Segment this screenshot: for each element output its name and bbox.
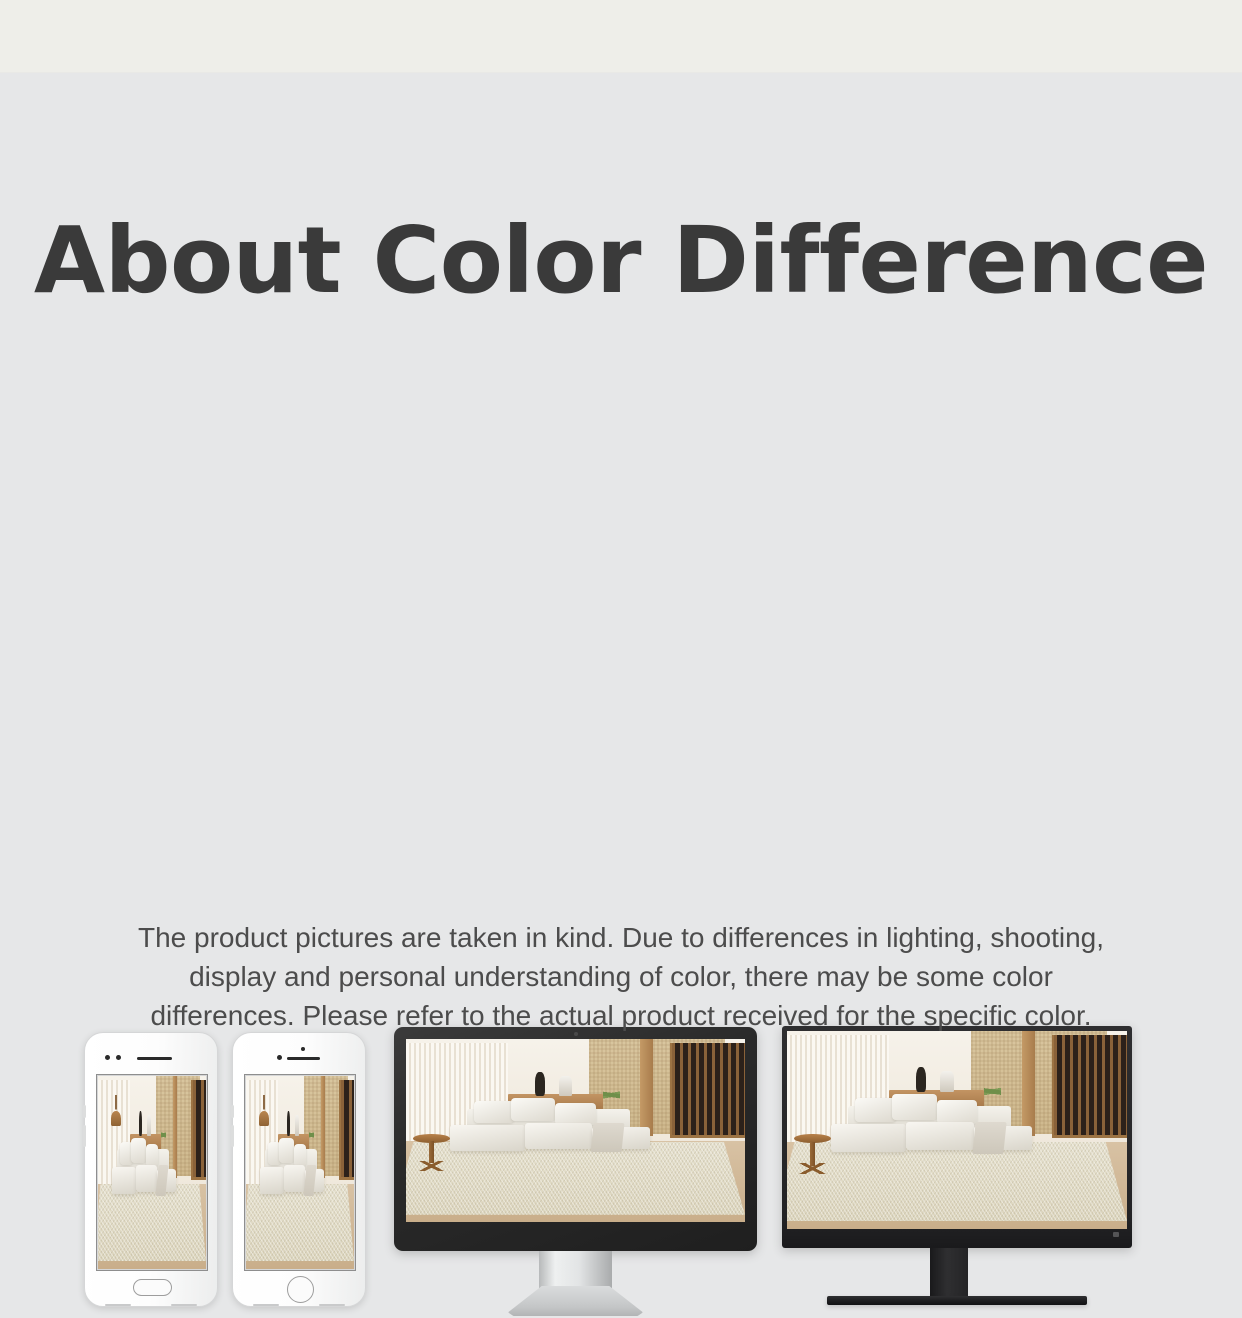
scene-cushion: [937, 1100, 978, 1124]
black-monitor-stand-base: [827, 1296, 1087, 1305]
scene-slat-screen: [339, 1080, 354, 1180]
scene-cushion: [511, 1098, 555, 1122]
scene-side-table-stem: [429, 1141, 434, 1163]
scene-door-frame: [321, 1076, 325, 1178]
smartphone-right-screen: [244, 1074, 356, 1271]
bottom-antenna-line: [319, 1304, 345, 1306]
scene-pendant-lamp: [111, 1095, 121, 1126]
scene-sofa-seat: [260, 1167, 284, 1194]
scene-sofa-seat: [831, 1124, 906, 1152]
scene-cushion: [146, 1144, 159, 1167]
disclaimer-line-3: differences. Please refer to the actual …: [0, 996, 1242, 1035]
disclaimer-line-2: display and personal understanding of co…: [0, 957, 1242, 996]
scene-slat-screen: [191, 1080, 206, 1180]
bottom-speaker-grille: [105, 1304, 131, 1306]
volume-up-button[interactable]: [83, 1105, 86, 1118]
apple-display-stand-neck: [539, 1251, 612, 1289]
scene-cushion: [855, 1098, 896, 1122]
scene-side-table-legs: [796, 1163, 829, 1173]
scene-rug: [245, 1184, 354, 1261]
scene-throw-blanket: [591, 1123, 625, 1152]
home-button[interactable]: [287, 1276, 314, 1303]
smartphone-left[interactable]: [84, 1032, 218, 1307]
disclaimer-line-1: The product pictures are taken in kind. …: [0, 918, 1242, 957]
scene-sofa-seat: [906, 1122, 974, 1150]
black-monitor[interactable]: [782, 1026, 1132, 1318]
scene-cushion: [555, 1103, 596, 1125]
bottom-speaker-grille: [253, 1304, 279, 1306]
scene-rug: [787, 1142, 1127, 1221]
scene-pendant-lamp: [259, 1095, 269, 1126]
scene-sofa-seat: [525, 1123, 593, 1149]
scene-sofa-seat: [112, 1167, 136, 1194]
proximity-sensor-icon: [116, 1055, 121, 1060]
apple-display-bezel: [394, 1027, 757, 1251]
camera-icon: [105, 1055, 110, 1060]
scene-throw-blanket: [972, 1122, 1006, 1154]
home-button[interactable]: [133, 1279, 172, 1296]
scene-side-table-legs: [415, 1161, 448, 1171]
scene-rug: [97, 1184, 206, 1261]
scene-door-frame: [640, 1039, 654, 1136]
scene-rug: [406, 1142, 745, 1215]
apple-thunderbolt-display[interactable]: [394, 1027, 757, 1317]
black-monitor-stand-neck: [930, 1248, 968, 1301]
page-title: About Color Difference: [0, 209, 1242, 313]
volume-down-button[interactable]: [231, 1125, 234, 1147]
scene-cushion: [131, 1138, 145, 1163]
scene-vase: [535, 1072, 545, 1096]
scene-side-table: [413, 1134, 450, 1171]
top-color-band: [0, 0, 1242, 73]
color-difference-disclaimer: The product pictures are taken in kind. …: [0, 918, 1242, 1035]
scene-figurine: [295, 1115, 299, 1136]
scene-figurine: [559, 1076, 573, 1096]
scene-door-frame: [1022, 1031, 1036, 1136]
proximity-sensor-icon: [277, 1055, 282, 1060]
scene-cushion: [892, 1094, 936, 1120]
scene-cushion: [474, 1101, 515, 1123]
smartphone-right[interactable]: [232, 1032, 366, 1307]
living-room-scene: [245, 1075, 355, 1270]
scene-slat-screen: [1052, 1035, 1127, 1138]
scene-vase: [139, 1111, 142, 1136]
scene-door-frame: [173, 1076, 177, 1178]
scene-cushion: [294, 1144, 307, 1167]
scene-figurine: [940, 1071, 954, 1093]
living-room-scene: [97, 1075, 207, 1270]
black-monitor-screen: [787, 1031, 1127, 1229]
devices-showcase-row: [0, 505, 1242, 825]
scene-vase: [287, 1111, 290, 1136]
camera-icon: [301, 1047, 305, 1051]
scene-sofa-seat: [450, 1125, 525, 1151]
living-room-scene: [787, 1031, 1127, 1229]
scene-slat-screen: [670, 1043, 745, 1138]
apple-logo-icon: [567, 1227, 583, 1246]
speaker-grille-icon: [287, 1057, 320, 1060]
scene-side-table-stem: [810, 1142, 815, 1166]
smartphone-left-screen: [96, 1074, 208, 1271]
volume-up-button[interactable]: [231, 1105, 234, 1118]
scene-vase: [916, 1067, 926, 1093]
apple-display-screen: [406, 1039, 745, 1222]
page-body: About Color Difference: [0, 73, 1242, 1126]
scene-side-table: [794, 1134, 831, 1174]
scene-cushion: [279, 1138, 293, 1163]
scene-figurine: [147, 1115, 151, 1136]
speaker-grille-icon: [137, 1057, 172, 1060]
black-monitor-bezel: [782, 1026, 1132, 1248]
bottom-antenna-line: [171, 1304, 197, 1306]
power-led-icon: [1113, 1232, 1119, 1237]
volume-down-button[interactable]: [83, 1125, 86, 1147]
living-room-scene: [406, 1039, 745, 1222]
scene-sofa-seat: [284, 1165, 306, 1192]
apple-display-stand-foot: [508, 1286, 643, 1316]
scene-sofa-seat: [136, 1165, 158, 1192]
